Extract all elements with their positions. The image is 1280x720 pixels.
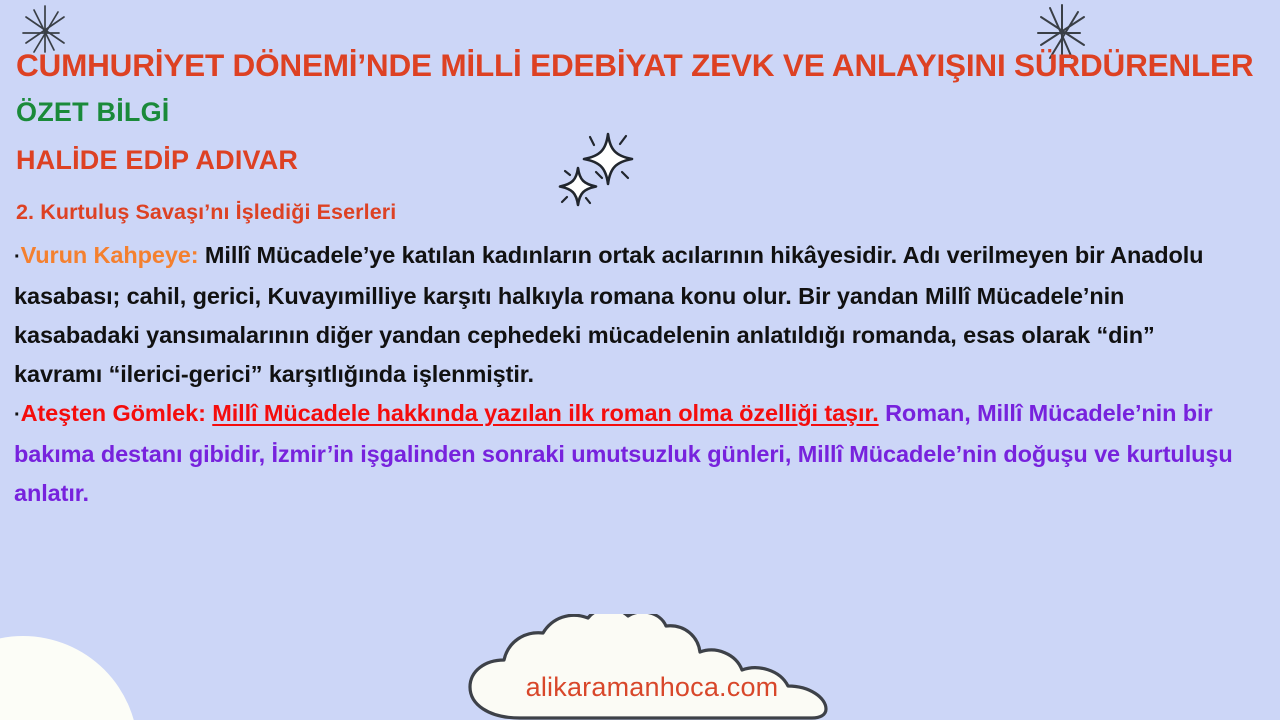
cloud-shape xyxy=(458,614,846,720)
section-heading: 2. Kurtuluş Savaşı’nı İşlediği Eserleri xyxy=(16,200,396,225)
paragraph-atesten-gomlek: ·Ateşten Gömlek: Millî Mücadele hakkında… xyxy=(14,394,1242,513)
subtitle-ozet-bilgi: ÖZET BİLGİ xyxy=(16,97,170,128)
page-title: CUMHURİYET DÖNEMİ’NDE MİLLİ EDEBİYAT ZEV… xyxy=(16,47,1266,84)
four-point-star-icon xyxy=(552,124,644,214)
corner-circle-shape xyxy=(0,636,138,720)
work-emphasis-atesten-gomlek: Millî Mücadele hakkında yazılan ilk roma… xyxy=(212,400,878,426)
slide-canvas: alikaramanhoca.com CUMHURİYET DÖNEMİ’NDE… xyxy=(0,0,1280,720)
watermark-text: alikaramanhoca.com xyxy=(458,672,846,703)
author-name: HALİDE EDİP ADIVAR xyxy=(16,145,298,176)
paragraph-vurun-kahpeye: ·Vurun Kahpeye: Millî Mücadele’ye katıla… xyxy=(14,236,1242,394)
work-label-vurun-kahpeye: Vurun Kahpeye: xyxy=(21,242,199,268)
work-label-atesten-gomlek: Ateşten Gömlek: xyxy=(21,400,206,426)
body-content: ·Vurun Kahpeye: Millî Mücadele’ye katıla… xyxy=(14,236,1242,513)
